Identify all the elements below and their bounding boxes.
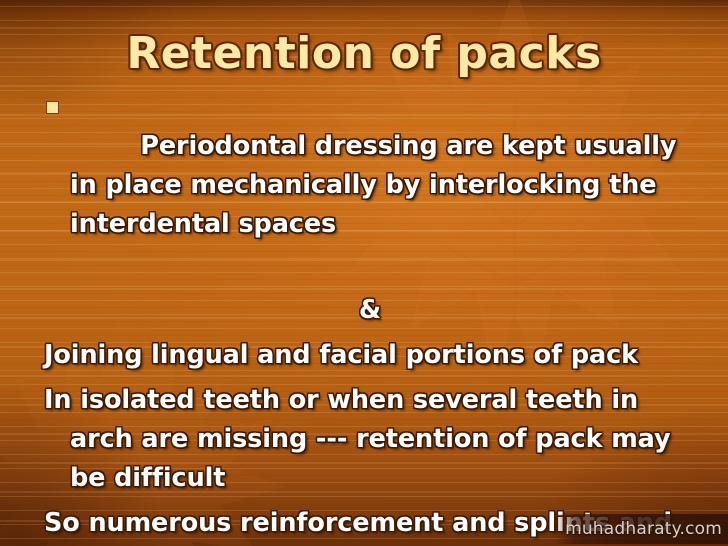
body-paragraph-ampersand: & bbox=[38, 291, 702, 330]
body-paragraph-3: In isolated teeth or when several teeth … bbox=[38, 381, 702, 498]
slide-title: Retention of packs bbox=[0, 28, 728, 80]
square-bullet-icon bbox=[47, 102, 58, 113]
body-paragraph-2: Joining lingual and facial portions of p… bbox=[38, 336, 702, 375]
spacer-1 bbox=[38, 283, 702, 291]
slide-content: Retention of packs Periodontal dressing … bbox=[0, 0, 728, 546]
presentation-slide: Retention of packs Periodontal dressing … bbox=[0, 0, 728, 546]
body-paragraph-1: Periodontal dressing are kept usually in… bbox=[38, 88, 702, 283]
body-paragraph-1-text: Periodontal dressing are kept usually in… bbox=[70, 131, 685, 239]
site-watermark-text: muhadharaty.com bbox=[565, 519, 722, 539]
site-watermark: muhadharaty.com bbox=[555, 514, 728, 544]
slide-body: Periodontal dressing are kept usually in… bbox=[38, 88, 702, 546]
